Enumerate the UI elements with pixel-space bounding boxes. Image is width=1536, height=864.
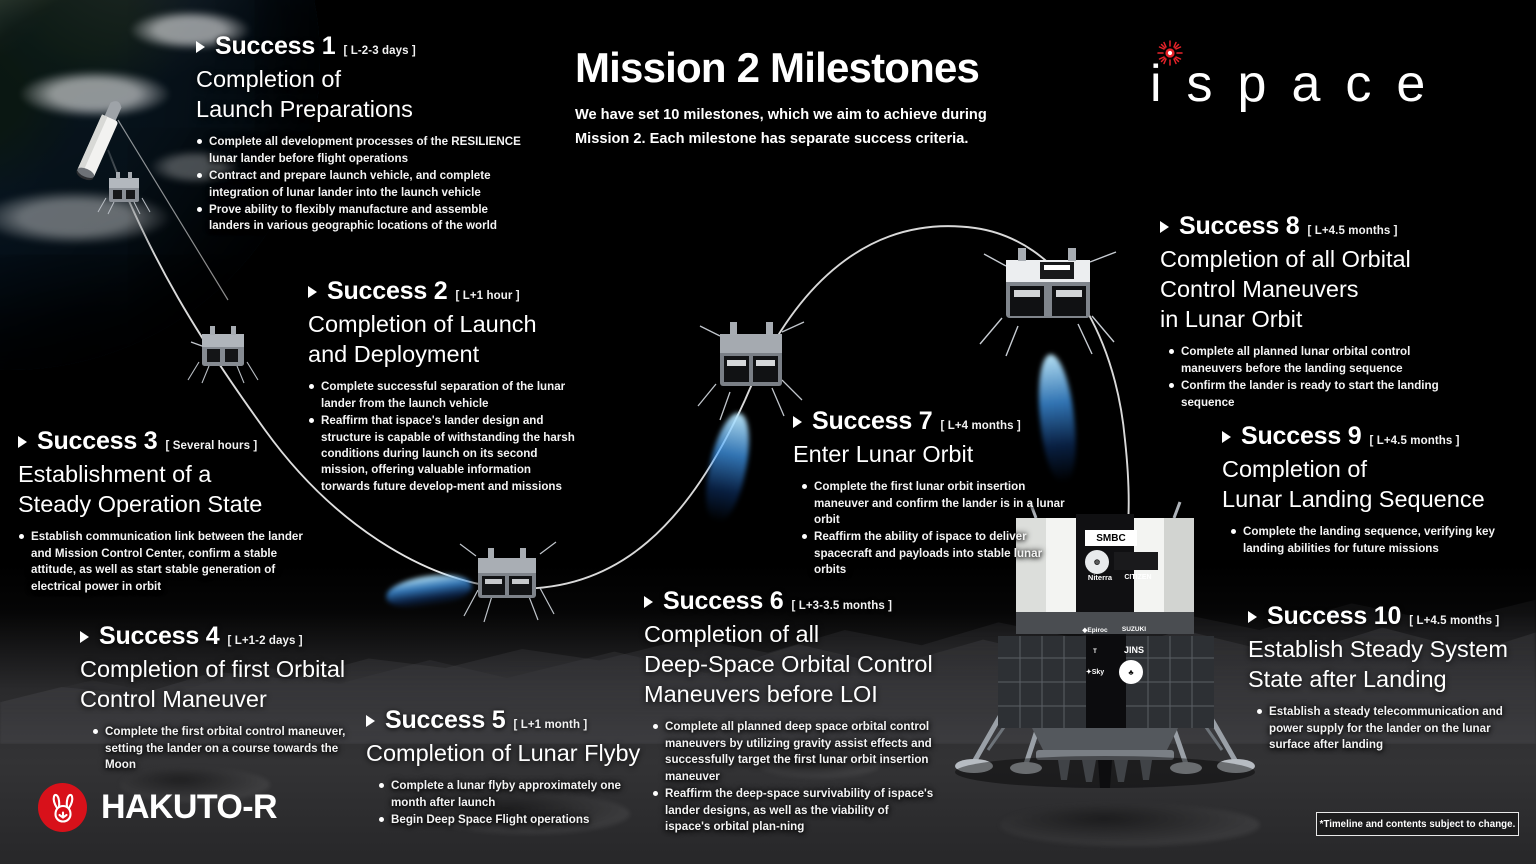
list-item: Complete the first lunar orbit insertion… [801,479,1073,528]
sponsor-decal-takasago: T [1078,642,1112,662]
milestone-5-bullets: Complete a lunar flyby approximately one… [366,778,646,828]
title-line: Deep-Space Orbital Control [644,649,934,679]
sponsor-decal-niterra: ◍ [1085,550,1109,574]
list-item: Complete the landing sequence, verifying… [1230,524,1514,557]
milestone-1: Success 1 [ L-2-3 days ] Completion of L… [196,32,526,236]
lander-sprite-2 [185,320,261,391]
milestone-4-label: Success 4 [99,622,220,651]
triangle-marker-icon [366,715,375,727]
title-line: Completion of [196,64,526,94]
milestone-7-timing: [ L+4 months ] [941,420,1021,432]
ispace-wordmark: ispace [1150,58,1450,110]
milestone-3: Success 3 [ Several hours ] Establishmen… [18,427,308,596]
milestone-10-title: Establish Steady System State after Land… [1248,634,1530,694]
milestone-6: Success 6 [ L+3-3.5 months ] Completion … [644,587,934,836]
milestone-2-bullets: Complete successful separation of the lu… [308,379,578,495]
earth-cloud [20,70,170,118]
rocket-fairing [56,95,136,210]
milestone-1-label: Success 1 [215,32,336,61]
milestone-9: Success 9 [ L+4.5 months ] Completion of… [1222,422,1514,558]
title-line: State after Landing [1248,664,1530,694]
milestone-4-title: Completion of first Orbital Control Mane… [80,654,365,714]
milestone-6-timing: [ L+3-3.5 months ] [792,600,893,612]
milestone-9-title: Completion of Lunar Landing Sequence [1222,454,1514,514]
ispace-logo[interactable]: ispace [1150,58,1450,110]
engine-plume [384,570,473,612]
milestone-4-bullets: Complete the first orbital control maneu… [80,724,365,773]
milestone-4-header: Success 4 [ L+1-2 days ] [80,622,365,651]
infographic-canvas: SMBC ◍ Niterra CITIZEN ◆Epiroc SUZUKI T … [0,0,1536,864]
milestone-5-title: Completion of Lunar Flyby [366,738,646,768]
triangle-marker-icon [308,286,317,298]
sponsor-decal-sky: ✦Sky [1078,666,1112,677]
page-subtitle: We have set 10 milestones, which we aim … [575,104,1045,151]
title-line: Launch Preparations [196,94,526,124]
list-item: Prove ability to flexibly manufacture an… [196,202,526,235]
triangle-marker-icon [1248,611,1257,623]
milestone-8-bullets: Complete all planned lunar orbital contr… [1160,344,1460,411]
list-item: Reaffirm the ability of ispace to delive… [801,529,1073,578]
milestone-1-timing: [ L-2-3 days ] [344,45,416,57]
list-item: Confirm the lander is ready to start the… [1168,378,1460,411]
milestone-9-timing: [ L+4.5 months ] [1370,435,1460,447]
hakuto-r-logo[interactable]: HAKUTO-R [38,783,277,832]
milestone-7: Success 7 [ L+4 months ] Enter Lunar Orb… [793,407,1073,580]
milestone-2-timing: [ L+1 hour ] [456,290,520,302]
lander-sprite-5 [962,232,1132,369]
title-line: Establish Steady System [1248,634,1530,664]
milestone-6-label: Success 6 [663,587,784,616]
triangle-marker-icon [1222,431,1231,443]
title-line: Lunar Landing Sequence [1222,484,1514,514]
milestone-2: Success 2 [ L+1 hour ] Completion of Lau… [308,277,578,496]
milestone-1-title: Completion of Launch Preparations [196,64,526,124]
title-line: Completion of all Orbital [1160,244,1460,274]
milestone-3-timing: [ Several hours ] [166,440,258,452]
sponsor-decal-suzuki: SUZUKI [1117,624,1151,635]
rabbit-badge-icon [38,783,87,832]
sponsor-decal-jins: JINS [1117,644,1151,655]
milestone-6-bullets: Complete all planned deep space orbital … [644,719,934,835]
title-line: Completion of first Orbital [80,654,365,684]
milestone-8: Success 8 [ L+4.5 months ] Completion of… [1160,212,1460,412]
milestone-10-label: Success 10 [1267,602,1401,631]
sponsor-decal-niterra-text: Niterra [1083,572,1117,583]
earth-cloud [0,190,170,245]
sponsor-decal-citizen-text: CITIZEN [1119,572,1157,583]
list-item: Complete successful separation of the lu… [308,379,578,412]
triangle-marker-icon [196,41,205,53]
milestone-7-header: Success 7 [ L+4 months ] [793,407,1073,436]
title-line: Completion of all [644,619,934,649]
title-line: Completion of [1222,454,1514,484]
milestone-5-label: Success 5 [385,706,506,735]
triangle-marker-icon [18,436,27,448]
list-item: Establish a steady telecommunication and… [1256,704,1530,753]
milestone-1-header: Success 1 [ L-2-3 days ] [196,32,526,61]
lander-sprite-3 [448,530,566,631]
triangle-marker-icon [80,631,89,643]
milestone-9-header: Success 9 [ L+4.5 months ] [1222,422,1514,451]
list-item: Reaffirm that ispace's lander design and… [308,413,578,495]
lunar-crater [1000,804,1260,846]
list-item: Reaffirm the deep-space survivability of… [652,786,934,835]
milestone-10-bullets: Establish a steady telecommunication and… [1248,704,1530,753]
milestone-4-timing: [ L+1-2 days ] [228,635,303,647]
lander-sprite-1 [96,168,152,221]
triangle-marker-icon [793,416,802,428]
milestone-7-title: Enter Lunar Orbit [793,439,1073,469]
title-line: Enter Lunar Orbit [793,439,1073,469]
title-line: Completion of Launch [308,309,578,339]
list-item: Establish communication link between the… [18,529,308,595]
sponsor-decal-smbc: SMBC [1085,530,1137,546]
title-line: in Lunar Orbit [1160,304,1460,334]
milestone-4: Success 4 [ L+1-2 days ] Completion of f… [80,622,365,775]
sponsor-decal-kurita: ♣ [1119,660,1143,684]
list-item: Complete all planned lunar orbital contr… [1168,344,1460,377]
milestone-1-bullets: Complete all development processes of th… [196,134,526,235]
milestone-3-title: Establishment of a Steady Operation Stat… [18,459,308,519]
sponsor-decal-citizen-panel [1114,552,1158,570]
milestone-10-header: Success 10 [ L+4.5 months ] [1248,602,1530,631]
title-line: Establishment of a [18,459,308,489]
milestone-5-timing: [ L+1 month ] [514,719,588,731]
engine-plume [699,409,757,524]
list-item: Complete all planned deep space orbital … [652,719,934,785]
milestone-6-header: Success 6 [ L+3-3.5 months ] [644,587,934,616]
rabbit-icon [48,792,78,824]
list-item: Begin Deep Space Flight operations [378,812,646,828]
title-line: Control Maneuver [80,684,365,714]
sponsor-decal-epiroc: ◆Epiroc [1078,624,1112,635]
title-line: Completion of Lunar Flyby [366,738,646,768]
title-line: Maneuvers before LOI [644,679,934,709]
footnote-box: *Timeline and contents subject to change… [1316,812,1519,836]
triangle-marker-icon [644,596,653,608]
title-line: Control Maneuvers [1160,274,1460,304]
list-item: Complete all development processes of th… [196,134,526,167]
milestone-3-label: Success 3 [37,427,158,456]
milestone-9-label: Success 9 [1241,422,1362,451]
milestone-3-header: Success 3 [ Several hours ] [18,427,308,456]
milestone-7-label: Success 7 [812,407,933,436]
milestone-9-bullets: Complete the landing sequence, verifying… [1222,524,1514,557]
hakuto-wordmark: HAKUTO-R [101,788,277,827]
list-item: Contract and prepare launch vehicle, and… [196,168,526,201]
milestone-5-header: Success 5 [ L+1 month ] [366,706,646,735]
milestone-10: Success 10 [ L+4.5 months ] Establish St… [1248,602,1530,755]
title-line: and Deployment [308,339,578,369]
triangle-marker-icon [1160,221,1169,233]
list-item: Complete a lunar flyby approximately one… [378,778,646,811]
milestone-6-title: Completion of all Deep-Space Orbital Con… [644,619,934,709]
sunburst-icon [1157,40,1183,66]
milestone-2-header: Success 2 [ L+1 hour ] [308,277,578,306]
milestone-8-header: Success 8 [ L+4.5 months ] [1160,212,1460,241]
page-title: Mission 2 Milestones [575,44,979,92]
milestone-7-bullets: Complete the first lunar orbit insertion… [793,479,1073,579]
milestone-5: Success 5 [ L+1 month ] Completion of Lu… [366,706,646,829]
milestone-2-title: Completion of Launch and Deployment [308,309,578,369]
title-line: Steady Operation State [18,489,308,519]
milestone-3-bullets: Establish communication link between the… [18,529,308,595]
milestone-8-label: Success 8 [1179,212,1300,241]
footnote-text: *Timeline and contents subject to change… [1320,819,1516,830]
milestone-10-timing: [ L+4.5 months ] [1409,615,1499,627]
milestone-2-label: Success 2 [327,277,448,306]
list-item: Complete the first orbital control maneu… [92,724,365,773]
milestone-8-timing: [ L+4.5 months ] [1308,225,1398,237]
milestone-8-title: Completion of all Orbital Control Maneuv… [1160,244,1460,334]
